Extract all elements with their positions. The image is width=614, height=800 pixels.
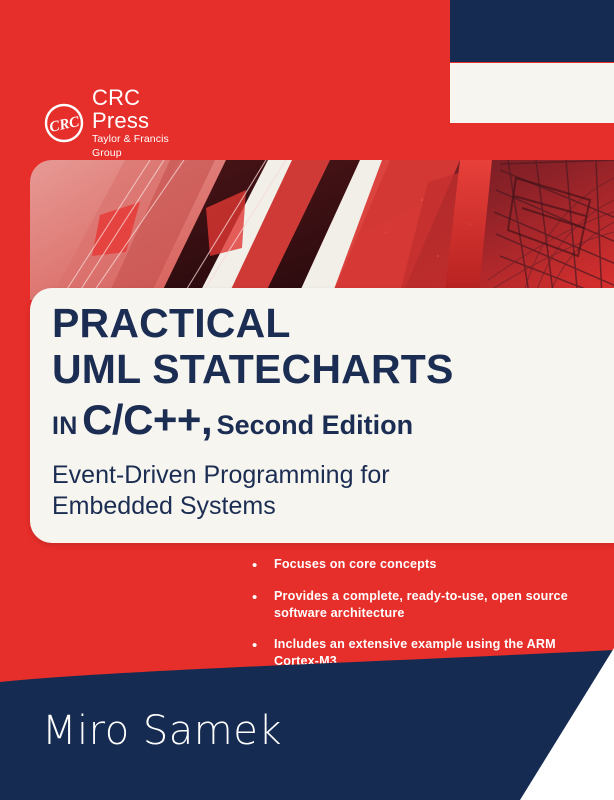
edition-language: C/C++, <box>82 396 212 443</box>
bullet-text: Provides a complete, ready-to-use, open … <box>274 588 582 622</box>
subtitle: Event-Driven Programming for Embedded Sy… <box>52 460 608 522</box>
crc-wordmark: CRC Press Taylor & Francis Group <box>92 86 194 160</box>
title-line-2: UML STATECHARTS <box>52 346 608 392</box>
crc-roundel-icon: CRC <box>44 103 84 143</box>
cover-artwork <box>30 160 614 300</box>
svg-text:CRC: CRC <box>48 114 82 136</box>
subtitle-line-1: Event-Driven Programming for <box>52 460 608 491</box>
crc-press-logo: CRC CRC Press Taylor & Francis Group <box>44 96 194 150</box>
edition-prefix: IN <box>52 412 78 440</box>
edition-number: Second Edition <box>217 410 414 440</box>
top-navy-block <box>450 0 614 62</box>
list-item: • Focuses on core concepts <box>252 556 582 574</box>
crc-press-name: CRC Press <box>92 86 194 132</box>
list-item: • Provides a complete, ready-to-use, ope… <box>252 588 582 622</box>
title-line-1: PRACTICAL <box>52 300 608 346</box>
edition-line: IN C/C++, Second Edition <box>52 398 608 452</box>
book-cover: CRC CRC Press Taylor & Francis Group <box>0 0 614 800</box>
bullet-dot-icon: • <box>252 588 274 622</box>
bullet-dot-icon: • <box>252 556 274 574</box>
subtitle-line-2: Embedded Systems <box>52 491 608 522</box>
top-cream-block <box>450 63 614 123</box>
title-card: PRACTICAL UML STATECHARTS IN C/C++, Seco… <box>30 288 614 543</box>
crc-group-name: Taylor & Francis Group <box>92 132 194 160</box>
bullet-text: Focuses on core concepts <box>274 556 436 574</box>
author-name: Miro Samek <box>42 708 282 754</box>
